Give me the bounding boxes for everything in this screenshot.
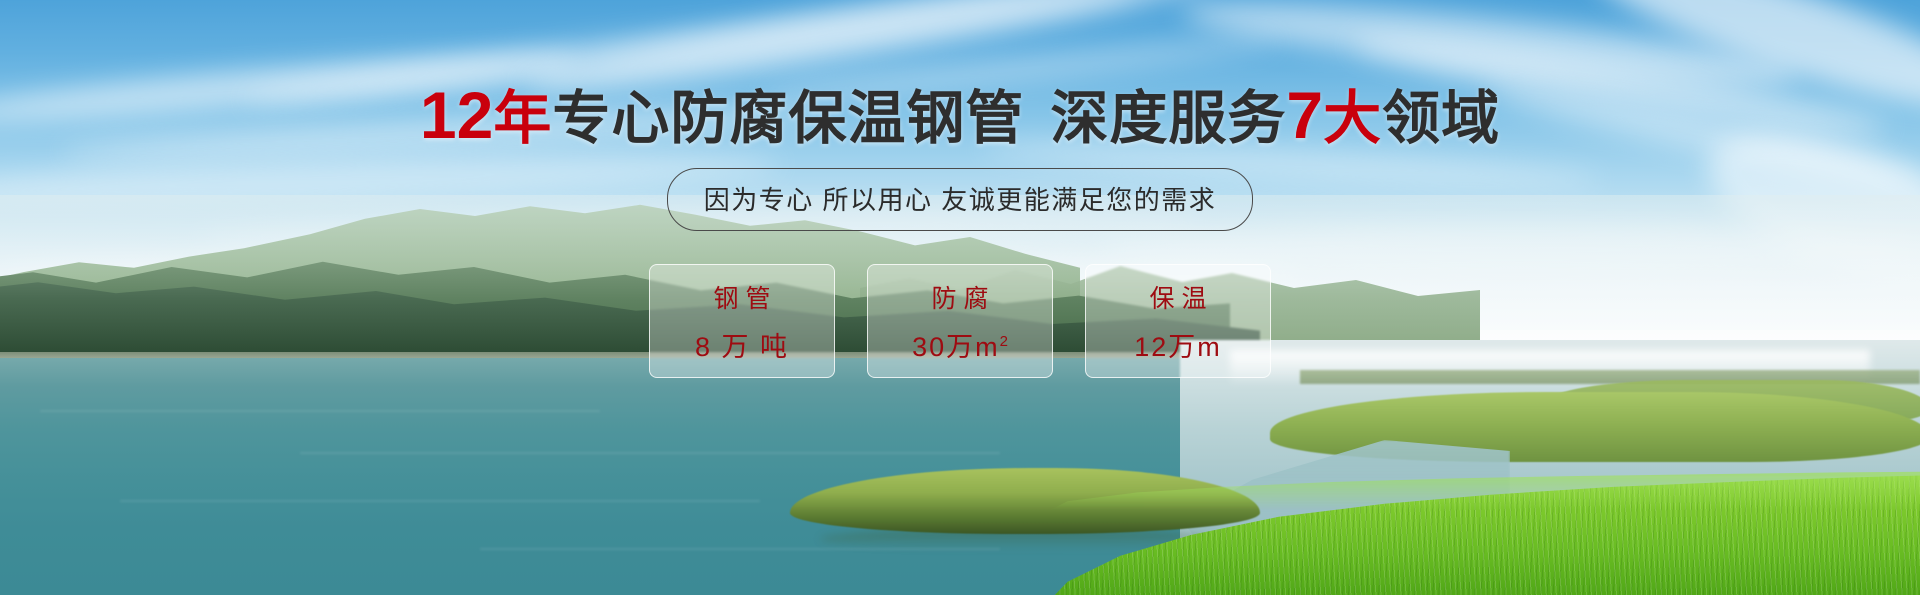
subtitle-pill: 因为专心 所以用心 友诚更能满足您的需求 xyxy=(667,168,1253,231)
stat-card-steel-pipe[interactable]: 钢管 8 万 吨 xyxy=(649,264,835,378)
stat-card-value-sup: 2 xyxy=(1000,333,1008,350)
stat-card-title: 防腐 xyxy=(924,279,995,315)
water-ripple xyxy=(300,452,1000,454)
hero-banner: 12年专心防腐保温钢管深度服务7大领域 因为专心 所以用心 友诚更能满足您的需求… xyxy=(0,0,1920,595)
stat-card-value: 30万m2 xyxy=(912,325,1008,364)
stat-card-value: 8 万 吨 xyxy=(695,325,789,364)
headline-fields-unit: 大 xyxy=(1323,86,1382,151)
headline-main-text: 专心防腐保温钢管 xyxy=(552,86,1024,151)
headline-fields-number: 7 xyxy=(1286,78,1323,152)
stat-cards: 钢管 8 万 吨 防腐 30万m2 保温 12万m xyxy=(0,264,1920,378)
stat-card-insulation[interactable]: 保温 12万m xyxy=(1085,264,1271,378)
water-ripple xyxy=(40,410,600,412)
stat-card-title: 保温 xyxy=(1142,279,1213,315)
subtitle-container: 因为专心 所以用心 友诚更能满足您的需求 xyxy=(0,168,1920,231)
stat-card-title: 钢管 xyxy=(706,279,777,315)
stat-card-value: 12万m xyxy=(1134,325,1222,364)
headline-service-text: 深度服务 xyxy=(1050,86,1286,151)
banner-headline: 12年专心防腐保温钢管深度服务7大领域 xyxy=(0,82,1920,148)
stat-card-value-text: 8 万 吨 xyxy=(695,332,789,362)
stat-card-value-text: 30万m xyxy=(912,332,1000,362)
water-ripple xyxy=(120,500,760,502)
headline-fields-tail: 领域 xyxy=(1382,86,1500,151)
headline-years-unit: 年 xyxy=(493,86,552,151)
stat-card-anticorrosion[interactable]: 防腐 30万m2 xyxy=(867,264,1053,378)
stat-card-value-text: 12万m xyxy=(1134,332,1222,362)
headline-years-number: 12 xyxy=(420,78,493,152)
